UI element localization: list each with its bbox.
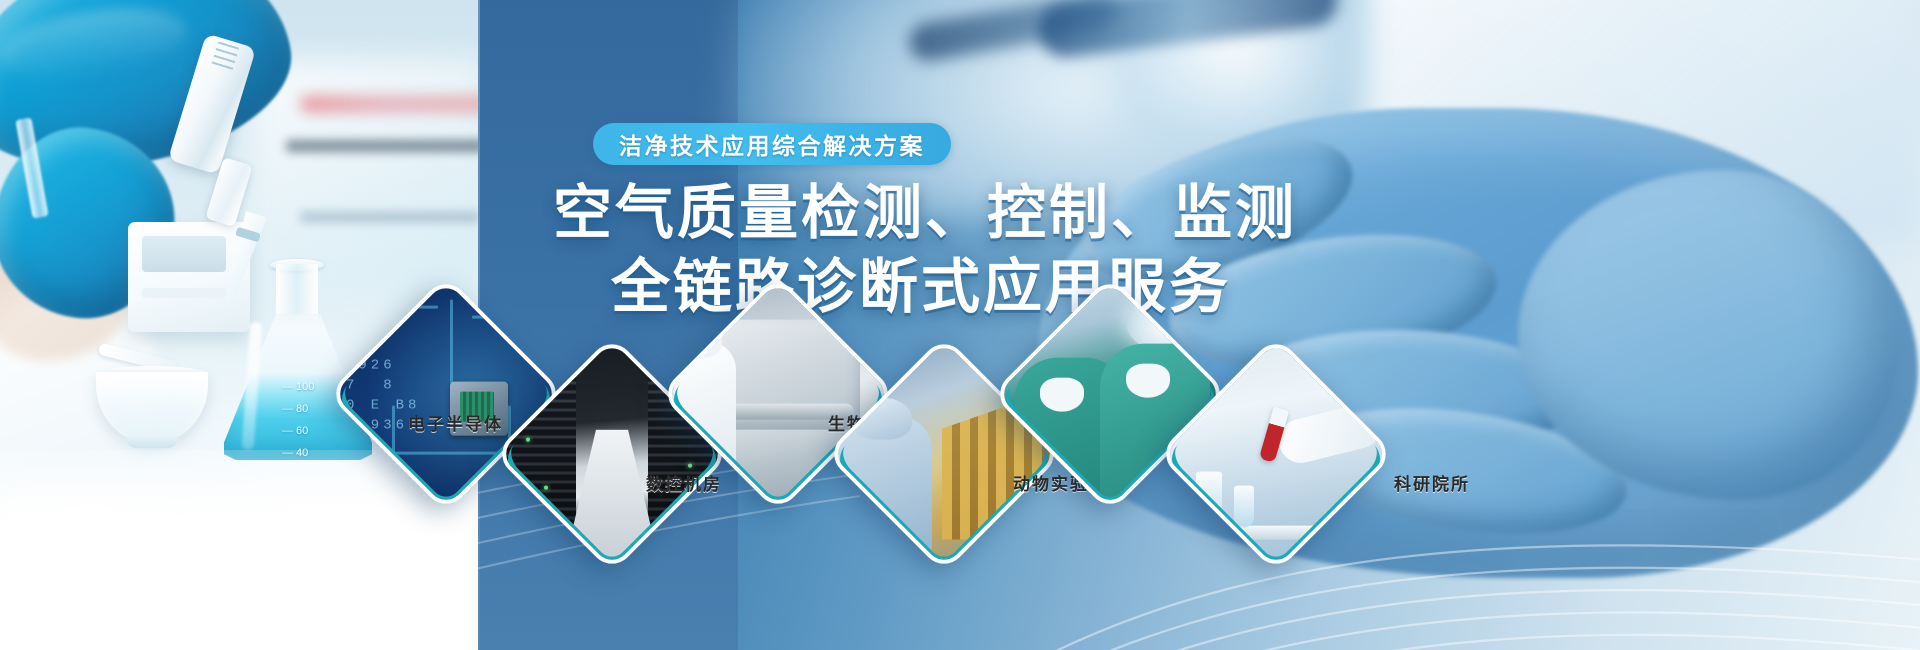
card-label-data-center: 数控机房 <box>646 470 722 495</box>
card-label-research-institute: 科研院所 <box>1394 470 1470 495</box>
card-label-electronic-semiconductor: 电子半导体 <box>408 410 503 435</box>
industry-card-row: 59267 80 E B87 936 电子半导体 <box>0 0 1920 650</box>
promotional-banner: 100 80 60 40 <box>0 0 1920 650</box>
